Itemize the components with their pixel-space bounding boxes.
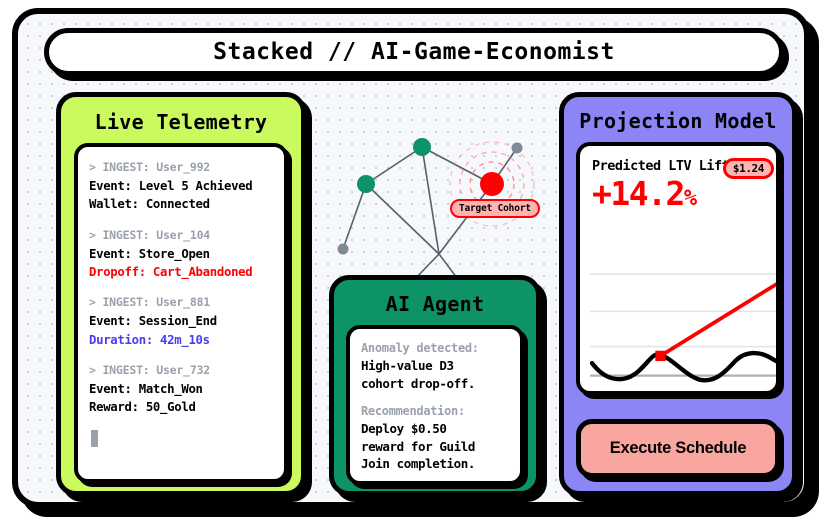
projection-chart xyxy=(590,247,780,387)
projection-panel-title: Projection Model xyxy=(576,109,780,133)
graph-edge xyxy=(422,147,439,254)
execute-schedule-button[interactable]: Execute Schedule xyxy=(576,419,780,478)
log-entry-head: > INGEST: User_104 xyxy=(89,227,273,245)
graph-node-gray[interactable] xyxy=(338,244,349,255)
projected-value-badge: $1.24 xyxy=(723,158,774,179)
execute-schedule-label: Execute Schedule xyxy=(610,439,746,458)
terminal-cursor-icon xyxy=(91,430,98,447)
page-title: Stacked // AI-Game-Economist xyxy=(213,39,615,65)
agent-panel-title: AI Agent xyxy=(346,292,524,316)
log-entry-line: Reward: 50_Gold xyxy=(89,398,273,416)
list-item: > INGEST: User_104 Event: Store_Open Dro… xyxy=(89,227,273,282)
network-graph[interactable] xyxy=(310,86,558,282)
log-entry-head: > INGEST: User_732 xyxy=(89,362,273,380)
agent-message-card: Anomaly detected: High-value D3 cohort d… xyxy=(346,325,524,485)
log-entry-line: Wallet: Connected xyxy=(89,195,273,213)
log-entry-line: Event: Store_Open xyxy=(89,245,273,263)
title-bar: Stacked // AI-Game-Economist xyxy=(44,28,784,76)
projection-model-panel: Projection Model Predicted LTV Lift +14.… xyxy=(559,92,797,496)
chart-projection-line xyxy=(661,280,780,356)
target-cohort-badge: Target Cohort xyxy=(450,199,540,218)
log-entry-line-info: Duration: 42m_10s xyxy=(89,331,273,349)
log-entry-line: Event: Match_Won xyxy=(89,380,273,398)
chart-gridlines xyxy=(590,274,780,347)
log-entry-line-alert: Dropoff: Cart_Abandoned xyxy=(89,263,273,281)
graph-node-green[interactable] xyxy=(357,175,375,193)
agent-block-label: Anomaly detected: xyxy=(361,340,509,357)
list-item: > INGEST: User_992 Event: Level 5 Achiev… xyxy=(89,159,273,214)
agent-block: Anomaly detected: High-value D3 cohort d… xyxy=(361,340,509,392)
chart-start-marker xyxy=(655,351,665,361)
telemetry-panel-title: Live Telemetry xyxy=(74,110,288,134)
app-window: Stacked // AI-Game-Economist Live Teleme… xyxy=(12,8,810,508)
graph-edge xyxy=(343,184,366,249)
graph-node-target[interactable] xyxy=(480,172,504,196)
agent-block-body: High-value D3 cohort drop-off. xyxy=(361,357,509,392)
agent-block-body: Deploy $0.50 reward for Guild Join compl… xyxy=(361,420,509,472)
graph-edge xyxy=(366,184,439,254)
list-item: > INGEST: User_732 Event: Match_Won Rewa… xyxy=(89,362,273,417)
list-item: > INGEST: User_881 Event: Session_End Du… xyxy=(89,294,273,349)
metric-unit: % xyxy=(684,186,696,211)
projection-chart-card: Predicted LTV Lift +14.2% $1.24 xyxy=(576,142,780,395)
ai-agent-panel: AI Agent Anomaly detected: High-value D3… xyxy=(329,275,541,496)
chart-end-marker xyxy=(777,274,780,286)
log-entry-head: > INGEST: User_992 xyxy=(89,159,273,177)
telemetry-log[interactable]: > INGEST: User_992 Event: Level 5 Achiev… xyxy=(74,143,288,483)
graph-node-green[interactable] xyxy=(413,138,431,156)
agent-block-label: Recommendation: xyxy=(361,403,509,420)
graph-edge xyxy=(366,147,422,184)
metric-value: +14.2% xyxy=(592,175,764,213)
live-telemetry-panel: Live Telemetry > INGEST: User_992 Event:… xyxy=(56,92,306,496)
graph-node-gray[interactable] xyxy=(512,143,523,154)
graph-edge xyxy=(439,184,492,254)
log-entry-line: Event: Level 5 Achieved xyxy=(89,177,273,195)
log-entry-head: > INGEST: User_881 xyxy=(89,294,273,312)
log-entry-line: Event: Session_End xyxy=(89,312,273,330)
agent-block: Recommendation: Deploy $0.50 reward for … xyxy=(361,403,509,472)
metric-number: +14.2 xyxy=(592,174,684,213)
